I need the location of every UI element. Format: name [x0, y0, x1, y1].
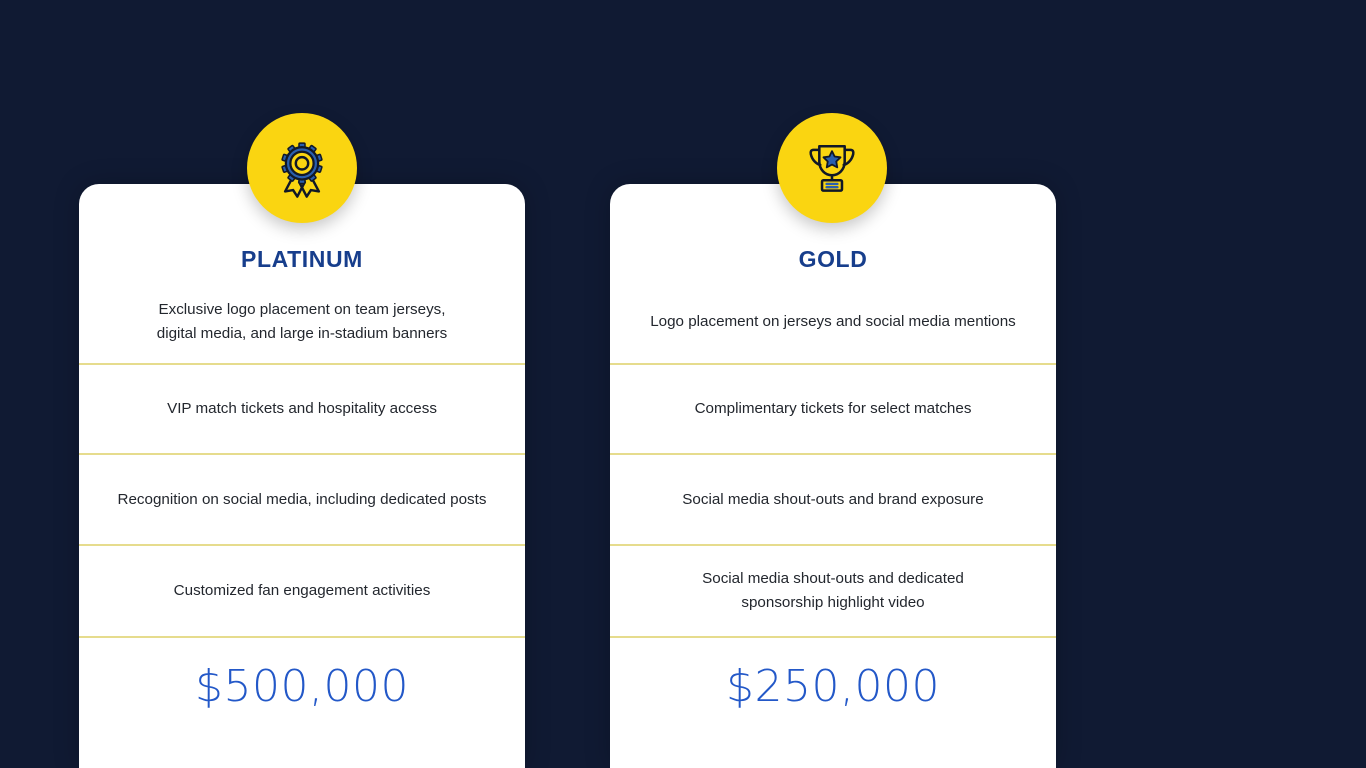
benefit-row: Recognition on social media, including d…	[79, 455, 525, 546]
package-icon-badge-platinum	[247, 113, 357, 223]
benefit-row: VIP match tickets and hospitality access	[79, 365, 525, 455]
benefit-text: Social media shout-outs and dedicatedspo…	[628, 567, 1038, 614]
package-card-platinum[interactable]: PLATINUM Exclusive logo placement on tea…	[79, 184, 525, 768]
benefit-text: Complimentary tickets for select matches	[628, 397, 1038, 421]
benefit-row: Exclusive logo placement on team jerseys…	[79, 281, 525, 365]
trophy-icon	[803, 139, 861, 197]
benefit-row: Customized fan engagement activities	[79, 546, 525, 638]
package-price-platinum: $500,000	[79, 638, 525, 712]
package-icon-badge-gold	[777, 113, 887, 223]
benefit-text: Social media shout-outs and brand exposu…	[628, 488, 1038, 512]
benefit-row: Complimentary tickets for select matches	[610, 365, 1056, 455]
benefit-list-gold: Logo placement on jerseys and social med…	[610, 281, 1056, 638]
benefit-text: Recognition on social media, including d…	[97, 488, 507, 512]
benefit-row: Social media shout-outs and brand exposu…	[610, 455, 1056, 546]
benefit-list-platinum: Exclusive logo placement on team jerseys…	[79, 281, 525, 638]
slide-canvas: PLATINUM Exclusive logo placement on tea…	[0, 0, 1366, 768]
award-ribbon-icon	[272, 138, 332, 198]
benefit-text: VIP match tickets and hospitality access	[97, 397, 507, 421]
side-heading-block: SPONSORSHIP PACKAGES	[1136, 0, 1366, 768]
benefit-text: Exclusive logo placement on team jerseys…	[97, 298, 507, 345]
package-price-gold: $250,000	[610, 638, 1056, 712]
package-card-gold[interactable]: GOLD Logo placement on jerseys and socia…	[610, 184, 1056, 768]
benefit-text: Customized fan engagement activities	[97, 579, 507, 603]
benefit-text: Logo placement on jerseys and social med…	[628, 310, 1038, 334]
benefit-row: Logo placement on jerseys and social med…	[610, 281, 1056, 365]
benefit-row: Social media shout-outs and dedicatedspo…	[610, 546, 1056, 638]
